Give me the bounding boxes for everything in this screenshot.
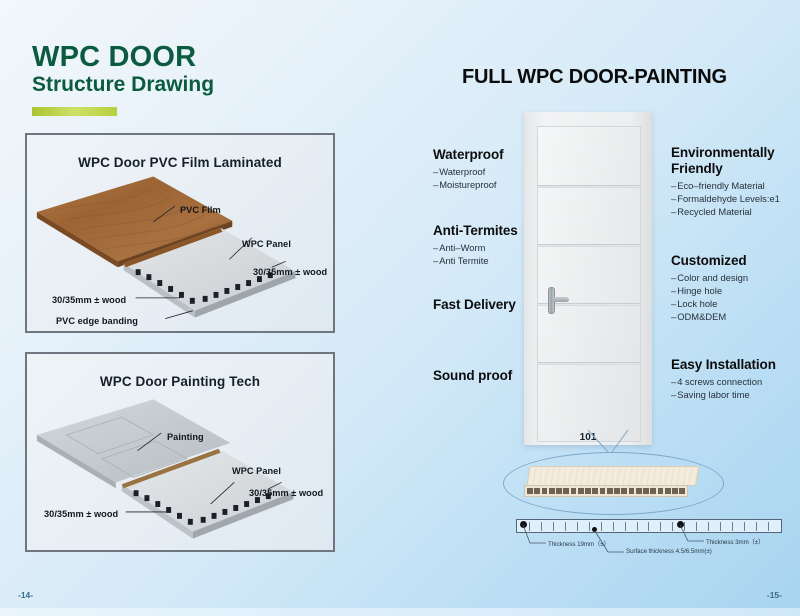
panel-painting-tech: WPC Door Painting Tech [25, 352, 335, 552]
label-wpc-panel: WPC Panel [242, 239, 291, 249]
feature-item: Saving labor time [671, 389, 776, 402]
feature-item: Recycled Material [671, 206, 800, 219]
feature-item: Anti Termite [433, 255, 518, 268]
accent-bar [32, 107, 117, 116]
core-cell [665, 488, 671, 494]
label-wpc-panel: WPC Panel [232, 466, 281, 476]
core-cell [600, 488, 606, 494]
core-cell [658, 488, 664, 494]
label-thickness-19mm: Thickness 19mm（±） [548, 539, 610, 548]
label-painting: Painting [167, 432, 204, 442]
page-subtitle: Structure Drawing [32, 73, 214, 97]
painting-tech-diagram [27, 354, 333, 551]
label-thickness-3mm: Thickness 3mm（±） [706, 537, 764, 546]
feature-item: Color and design [671, 272, 748, 285]
feature-item: Waterproof [433, 166, 504, 179]
core-cell [556, 488, 562, 494]
feature-item: Eco–friendly Material [671, 180, 800, 193]
core-cell [643, 488, 649, 494]
core-cell [621, 488, 627, 494]
core-cell [679, 488, 685, 494]
feature-list: Eco–friendly Material Formaldehyde Level… [671, 180, 800, 219]
right-page-title: FULL WPC DOOR-PAINTING [462, 66, 727, 89]
core-cell [585, 488, 591, 494]
feature-item: Formaldehyde Levels:e1 [671, 193, 800, 206]
door-illustration [524, 112, 652, 445]
core-cell [563, 488, 569, 494]
feature-sound-proof: Sound proof [433, 368, 512, 384]
door-handle-icon [548, 287, 570, 314]
core-cell [592, 488, 598, 494]
core-cell [542, 488, 548, 494]
core-cell [534, 488, 540, 494]
feature-list: Anti–Worm Anti Termite [433, 242, 518, 268]
feature-heading: Customized [671, 253, 748, 269]
feature-waterproof: Waterproof Waterproof Moistureproof [433, 147, 504, 192]
page-number-left: -14- [18, 590, 33, 600]
footer-band [0, 608, 800, 616]
core-cell [614, 488, 620, 494]
feature-item: ODM&DEM [671, 311, 748, 324]
left-header: WPC DOOR Structure Drawing [32, 42, 214, 116]
feature-heading: Easy Installation [671, 357, 776, 373]
feature-item: 4 screws connection [671, 376, 776, 389]
feature-easy-installation: Easy Installation 4 screws connection Sa… [671, 357, 776, 402]
feature-customized: Customized Color and design Hinge hole L… [671, 253, 748, 324]
page-title: WPC DOOR [32, 42, 214, 72]
core-cell [636, 488, 642, 494]
door-groove [538, 362, 640, 365]
feature-item: Hinge hole [671, 285, 748, 298]
core-cell [629, 488, 635, 494]
label-wood-left: 30/35mm ± wood [52, 295, 126, 305]
feature-environmentally-friendly: Environmentally Friendly Eco–friendly Ma… [671, 145, 800, 219]
door-groove [538, 185, 640, 188]
feature-heading: Environmentally Friendly [671, 145, 800, 177]
label-edge-banding: PVC edge banding [56, 316, 138, 326]
feature-item: Lock hole [671, 298, 748, 311]
feature-fast-delivery: Fast Delivery [433, 297, 516, 313]
core-cell [527, 488, 533, 494]
core-cell [549, 488, 555, 494]
feature-list: Waterproof Moistureproof [433, 166, 504, 192]
feature-heading: Waterproof [433, 147, 504, 163]
page-number-right: -15- [767, 590, 782, 600]
core-cell [650, 488, 656, 494]
label-wood-right: 30/35mm ± wood [249, 488, 323, 498]
feature-list: 4 screws connection Saving labor time [671, 376, 776, 402]
feature-list: Color and design Hinge hole Lock hole OD… [671, 272, 748, 324]
label-wood-right: 30/35mm ± wood [253, 267, 327, 277]
core-cell [571, 488, 577, 494]
core-cell [672, 488, 678, 494]
handle-lever [553, 297, 569, 302]
feature-heading: Anti-Termites [433, 223, 518, 239]
label-surface-thickness: Surface thickness 4.5/6.5mm(±) [626, 548, 712, 555]
feature-heading: Fast Delivery [433, 297, 516, 313]
core-cell [607, 488, 613, 494]
hollow-panel-top [526, 466, 700, 486]
feature-anti-termites: Anti-Termites Anti–Worm Anti Termite [433, 223, 518, 268]
hollow-panel-front [524, 485, 688, 497]
brochure-page: WPC DOOR Structure Drawing WPC Door PVC … [0, 0, 800, 616]
door-leaf [537, 126, 641, 442]
label-pvc-film: PVC Film [180, 205, 221, 215]
core-cell [578, 488, 584, 494]
panel-pvc-film-laminated: WPC Door PVC Film Laminated [25, 133, 335, 333]
feature-heading: Sound proof [433, 368, 512, 384]
feature-item: Moistureproof [433, 179, 504, 192]
door-groove [538, 244, 640, 247]
feature-item: Anti–Worm [433, 242, 518, 255]
label-wood-left: 30/35mm ± wood [44, 509, 118, 519]
